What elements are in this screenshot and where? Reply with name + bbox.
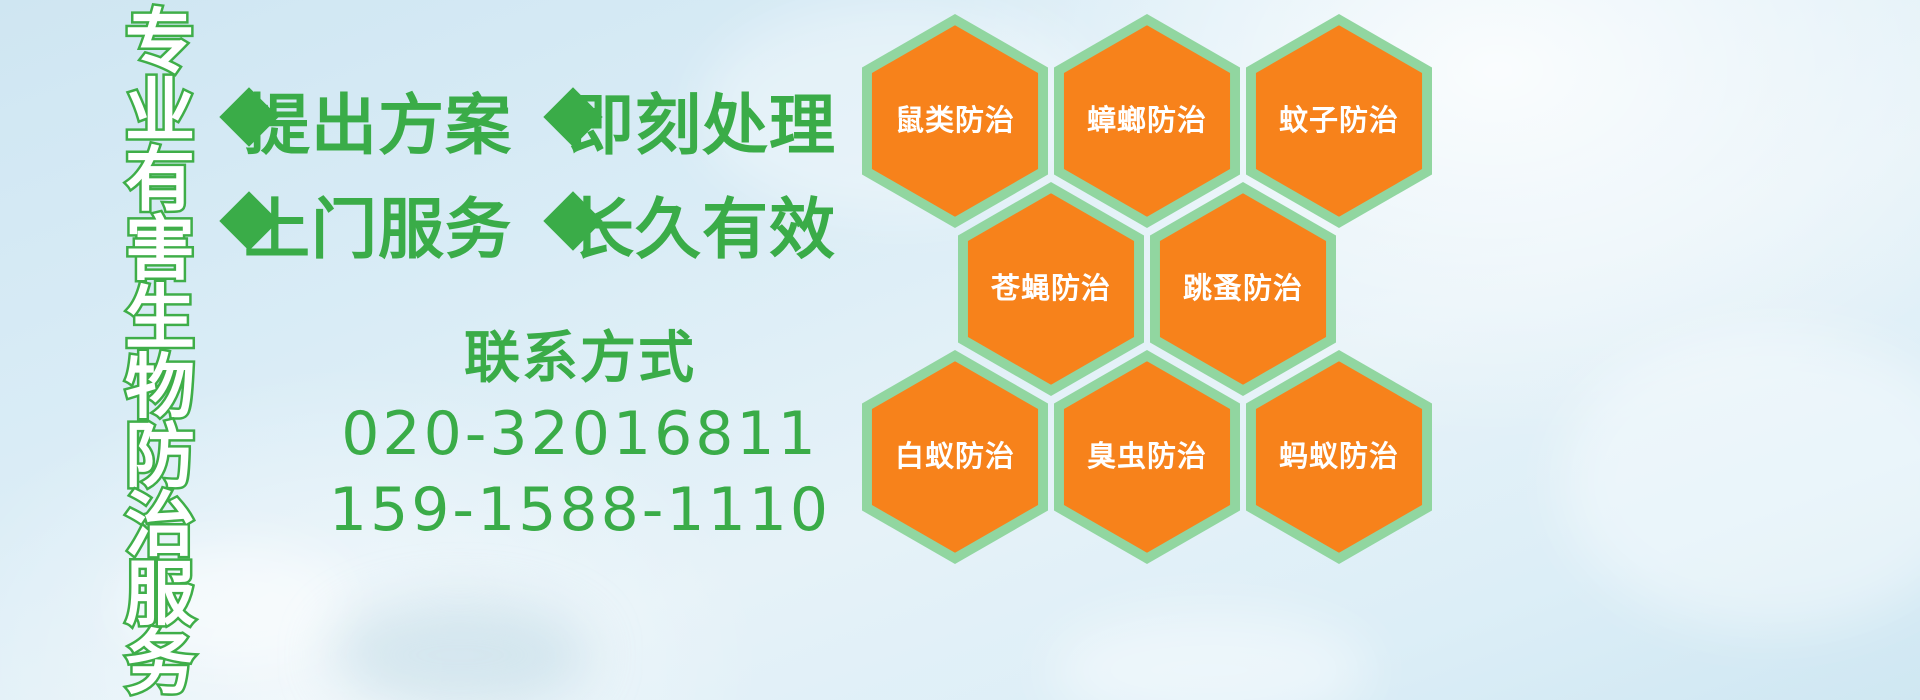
contact-title: 联系方式 bbox=[300, 322, 860, 396]
feature-label: 上门服务 bbox=[244, 197, 512, 263]
service-label: 蟑螂防治 bbox=[1054, 105, 1240, 137]
service-label: 白蚁防治 bbox=[862, 441, 1048, 473]
pest-control-banner: 专 业 有 害 生 物 防 治 服 务 提出方案 即刻处理 上门服务 长久有效 … bbox=[0, 0, 1920, 700]
service-label: 鼠类防治 bbox=[862, 105, 1048, 137]
vertical-slogan-char: 业 bbox=[125, 77, 195, 146]
vertical-slogan-char: 害 bbox=[125, 215, 195, 284]
feature-row: 上门服务 长久有效 bbox=[228, 178, 868, 282]
vertical-slogan: 专 业 有 害 生 物 防 治 服 务 bbox=[108, 8, 212, 698]
contact-block: 联系方式 020-32016811 159-1588-1110 bbox=[300, 322, 860, 548]
vertical-slogan-char: 物 bbox=[125, 353, 195, 422]
background-blob bbox=[1560, 330, 1920, 630]
vertical-slogan-char: 有 bbox=[125, 146, 195, 215]
background-blob bbox=[330, 600, 590, 700]
feature-label: 即刻处理 bbox=[568, 93, 836, 159]
service-hex-termite[interactable]: 白蚁防治 bbox=[862, 350, 1048, 564]
feature-row: 提出方案 即刻处理 bbox=[228, 74, 868, 178]
service-label: 臭虫防治 bbox=[1054, 441, 1240, 473]
phone-number-mobile[interactable]: 159-1588-1110 bbox=[300, 472, 860, 548]
service-label: 苍蝇防治 bbox=[958, 273, 1144, 305]
feature-label: 长久有效 bbox=[568, 197, 836, 263]
phone-number-landline[interactable]: 020-32016811 bbox=[300, 396, 860, 472]
service-label: 蚊子防治 bbox=[1246, 105, 1432, 137]
vertical-slogan-char: 务 bbox=[125, 629, 195, 698]
background-blob bbox=[1050, 610, 1370, 700]
service-label: 跳蚤防治 bbox=[1150, 273, 1336, 305]
vertical-slogan-char: 防 bbox=[125, 422, 195, 491]
service-hex-ant[interactable]: 蚂蚁防治 bbox=[1246, 350, 1432, 564]
feature-list: 提出方案 即刻处理 上门服务 长久有效 bbox=[228, 74, 868, 282]
vertical-slogan-char: 生 bbox=[125, 284, 195, 353]
feature-label: 提出方案 bbox=[244, 93, 512, 159]
vertical-slogan-char: 治 bbox=[125, 491, 195, 560]
service-label: 蚂蚁防治 bbox=[1246, 441, 1432, 473]
vertical-slogan-char: 专 bbox=[125, 8, 195, 77]
service-honeycomb: 鼠类防治 蟑螂防治 蚊子防治 苍蝇防治 跳蚤防治 白蚁防治 bbox=[862, 0, 1462, 560]
vertical-slogan-char: 服 bbox=[125, 560, 195, 629]
service-hex-bedbug[interactable]: 臭虫防治 bbox=[1054, 350, 1240, 564]
